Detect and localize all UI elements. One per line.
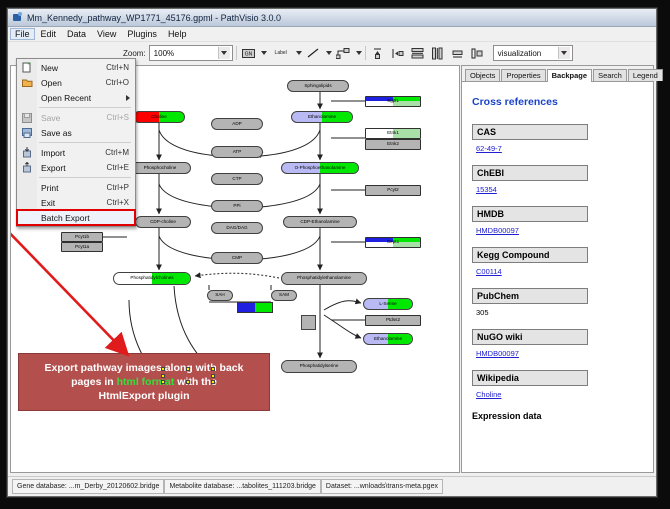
node-label: DAG/DAG — [226, 226, 247, 231]
svg-text:GN: GN — [244, 51, 252, 57]
node-label: L-Serine — [379, 302, 396, 307]
pathway-node-lserine[interactable]: L-Serine — [363, 298, 413, 310]
pathvisio-icon — [12, 12, 23, 23]
xref-value-chebi[interactable]: 15354 — [476, 185, 645, 194]
pathway-node-dagdag[interactable]: DAG/DAG — [211, 222, 263, 234]
node-label: ATP — [233, 150, 242, 155]
menu-item-save-as-label: Save as — [37, 128, 129, 138]
pathvisio-window: Mm_Kennedy_pathway_WP1771_45176.gpml - P… — [7, 8, 657, 497]
menu-item-save-accel: Ctrl+S — [107, 113, 135, 122]
node-label: Etnk1 — [387, 131, 399, 136]
node-label: PPi — [233, 204, 240, 209]
pathway-node-choline[interactable]: Choline — [133, 111, 185, 123]
dock-tabstrip: Objects Properties Backpage Search Legen… — [462, 66, 653, 82]
menu-item-new-label: New — [37, 63, 106, 73]
node-label: O-Phosphoethanolamine — [295, 166, 346, 171]
xref-value-kegg[interactable]: C00114 — [476, 267, 645, 276]
selection-handle[interactable] — [186, 367, 190, 371]
menu-item-exit-label: Exit — [37, 198, 107, 208]
selection-handle[interactable] — [161, 380, 165, 384]
xref-header-chebi: ChEBI — [472, 165, 588, 181]
interaction-tool-button[interactable] — [335, 45, 352, 61]
toolbar-separator — [236, 46, 237, 60]
datanode-dropdown-icon[interactable] — [261, 51, 267, 55]
submenu-arrow-icon — [126, 95, 130, 101]
backpage-panel: Cross references CAS 62-49-7 ChEBI 15354… — [462, 82, 653, 472]
menu-item-open-recent-label: Open Recent — [37, 93, 135, 103]
pathway-node-atp[interactable]: ATP — [211, 146, 263, 158]
menu-data[interactable]: Data — [62, 28, 91, 40]
xref-header-kegg: Kegg Compound — [472, 247, 588, 263]
pathway-node-ophosphoethanolamine[interactable]: O-Phosphoethanolamine — [281, 162, 359, 174]
expression-legend-block — [237, 302, 273, 313]
pathway-node-cdpethanolamine[interactable]: CDP-Ethanolamine — [283, 216, 357, 228]
menu-item-open[interactable]: Open Ctrl+O — [17, 75, 135, 90]
pathway-node-sgpl1[interactable]: Sgpl1 — [365, 96, 421, 107]
selection-handle[interactable] — [186, 380, 190, 384]
datanode-tool-button[interactable]: GN — [240, 45, 257, 61]
expression-data-heading: Expression data — [472, 411, 645, 421]
status-bar: Gene database: ...m_Derby_20120602.bridg… — [8, 476, 656, 496]
node-label: Phosphocholine — [144, 166, 177, 171]
menu-item-export-label: Export — [37, 163, 107, 173]
selection-handle[interactable] — [211, 380, 215, 384]
node-label: Ptdss2 — [386, 318, 400, 323]
pathway-node-cmp[interactable]: CMP — [211, 252, 263, 264]
annotation-line2-a: pages in — [71, 376, 117, 388]
menu-item-import[interactable]: Import Ctrl+M — [17, 145, 135, 160]
zoom-label: Zoom: — [123, 49, 146, 58]
pathway-node-ethanolamine1[interactable]: Ethanolamine — [291, 111, 353, 123]
pathway-node-ctp[interactable]: CTP — [211, 173, 263, 185]
annotation-line3: HtmlExport plugin — [99, 390, 190, 402]
xref-value-hmdb[interactable]: HMDB00097 — [476, 226, 645, 235]
expression-legend-block-right — [255, 303, 272, 312]
annotation-highlight: html format — [117, 376, 175, 388]
group-anchor-handle[interactable] — [301, 315, 316, 330]
menu-item-exit[interactable]: Exit Ctrl+X — [17, 195, 135, 210]
save-as-icon — [17, 128, 37, 138]
pathway-node-adp[interactable]: ADP — [211, 118, 263, 130]
status-dataset: Dataset: ...wnloads\trans-meta.pgex — [321, 479, 443, 494]
cross-references-heading: Cross references — [472, 96, 645, 108]
tab-legend[interactable]: Legend — [628, 69, 663, 81]
group-icon[interactable] — [469, 45, 486, 61]
visualization-value: visualization — [496, 49, 558, 58]
pathway-node-ptdss2[interactable]: Ptdss2 — [365, 315, 421, 326]
selection-handle[interactable] — [161, 374, 165, 378]
distribute-vertical-icon[interactable] — [409, 45, 426, 61]
file-menu-popup[interactable]: New Ctrl+N Open Ctrl+O Open Recent — [16, 58, 136, 227]
line-dropdown-icon[interactable] — [326, 51, 332, 55]
status-metabolite-database: Metabolite database: ...tabolites_111203… — [164, 479, 320, 494]
node-label: ADP — [232, 122, 241, 127]
menu-item-exit-accel: Ctrl+X — [107, 198, 135, 207]
xref-header-pubchem: PubChem — [472, 288, 588, 304]
new-file-icon — [17, 62, 37, 73]
pathway-node-pcyt2[interactable]: Pcyt2 — [365, 185, 421, 196]
visualization-combo[interactable]: visualization — [493, 45, 573, 61]
pathway-node-sam[interactable]: SAM — [271, 290, 297, 301]
pathway-node-cept1[interactable]: Cept1 — [365, 237, 421, 248]
import-icon — [17, 147, 37, 158]
side-dock: Objects Properties Backpage Search Legen… — [461, 65, 654, 473]
zoom-combo[interactable]: 100% — [149, 45, 233, 61]
menu-separator-1 — [39, 107, 131, 108]
selection-handle[interactable] — [211, 374, 215, 378]
align-left-icon[interactable] — [389, 45, 406, 61]
xref-header-nugo: NuGO wiki — [472, 329, 588, 345]
node-label: Phosphatidylserine — [300, 364, 339, 369]
chevron-down-icon[interactable] — [218, 47, 230, 59]
menu-separator-3 — [39, 177, 131, 178]
menu-bar: File Edit Data View Plugins Help — [8, 27, 656, 42]
align-top-icon[interactable] — [369, 45, 386, 61]
stack-center-icon[interactable] — [449, 45, 466, 61]
selection-handle[interactable] — [211, 367, 215, 371]
tab-backpage[interactable]: Backpage — [547, 69, 592, 82]
xref-value-wikipedia[interactable]: Choline — [476, 390, 645, 399]
pathway-node-phosphocholine[interactable]: Phosphocholine — [129, 162, 191, 174]
node-label: Ethanolamine — [374, 337, 402, 342]
window-title: Mm_Kennedy_pathway_WP1771_45176.gpml - P… — [27, 13, 281, 23]
node-label: Sphingolipids — [304, 84, 331, 89]
pathway-node-etnk2[interactable]: Etnk2 — [365, 139, 421, 150]
menu-item-open-accel: Ctrl+O — [106, 78, 135, 87]
label-tool-button[interactable]: Label — [270, 45, 292, 61]
xref-value-nugo[interactable]: HMDB00097 — [476, 349, 645, 358]
open-folder-icon — [17, 78, 37, 88]
menu-view[interactable]: View — [92, 28, 121, 40]
xref-header-hmdb: HMDB — [472, 206, 588, 222]
toolbar-separator-2 — [365, 46, 366, 60]
node-label: CTP — [232, 177, 241, 182]
menu-item-new[interactable]: New Ctrl+N — [17, 60, 135, 75]
menu-item-save: Save Ctrl+S — [17, 110, 135, 125]
menu-item-print-accel: Ctrl+P — [107, 183, 135, 192]
node-label: SAH — [215, 293, 224, 298]
status-gene-database: Gene database: ...m_Derby_20120602.bridg… — [12, 479, 164, 494]
menu-file[interactable]: File — [10, 28, 35, 40]
menu-edit[interactable]: Edit — [36, 28, 62, 40]
xref-value-pubchem: 305 — [476, 308, 645, 317]
menu-item-import-accel: Ctrl+M — [105, 148, 135, 157]
pathway-node-sphingolipids[interactable]: Sphingolipids — [287, 80, 349, 92]
title-bar: Mm_Kennedy_pathway_WP1771_45176.gpml - P… — [8, 9, 656, 27]
menu-plugins[interactable]: Plugins — [122, 28, 162, 40]
chevron-down-icon-2[interactable] — [558, 47, 570, 59]
menu-item-export[interactable]: Export Ctrl+E — [17, 160, 135, 175]
menu-item-print-label: Print — [37, 183, 107, 193]
line-tool-button[interactable] — [305, 45, 322, 61]
label-dropdown-icon[interactable] — [296, 51, 302, 55]
node-label: CMP — [232, 256, 242, 261]
node-label: Phosphatidylethanolamine — [297, 276, 351, 281]
menu-item-batch-export[interactable]: Batch Export — [17, 210, 135, 225]
xref-header-wikipedia: Wikipedia — [472, 370, 588, 386]
node-label: Choline — [151, 115, 167, 120]
tab-properties[interactable]: Properties — [501, 69, 545, 81]
menu-item-import-label: Import — [37, 148, 105, 158]
menu-item-open-recent[interactable]: Open Recent — [17, 90, 135, 105]
node-label: Ethanolamine — [308, 115, 336, 120]
menu-separator-2 — [39, 142, 131, 143]
menu-item-export-accel: Ctrl+E — [107, 163, 135, 172]
node-label: SAM — [279, 293, 289, 298]
node-label: Cept1 — [387, 240, 399, 245]
tab-objects[interactable]: Objects — [465, 69, 500, 81]
xref-header-cas: CAS — [472, 124, 588, 140]
menu-help[interactable]: Help — [163, 28, 192, 40]
save-disk-icon — [17, 113, 37, 123]
tab-search[interactable]: Search — [593, 69, 627, 81]
pathway-node-etnk1[interactable]: Etnk1 — [365, 128, 421, 139]
node-label: Sgpl1 — [387, 99, 399, 104]
distribute-horizontal-icon[interactable] — [429, 45, 446, 61]
menu-item-open-label: Open — [37, 78, 106, 88]
menu-item-save-label: Save — [37, 113, 107, 123]
pathway-node-phosphatidylserine[interactable]: Phosphatidylserine — [281, 360, 357, 373]
menu-item-save-as[interactable]: Save as — [17, 125, 135, 140]
zoom-value: 100% — [152, 49, 218, 58]
export-icon — [17, 162, 37, 173]
selection-handle[interactable] — [161, 367, 165, 371]
menu-item-new-accel: Ctrl+N — [106, 63, 135, 72]
interaction-dropdown-icon[interactable] — [356, 51, 362, 55]
node-label: CDP-Ethanolamine — [300, 220, 339, 225]
pathway-node-ethanolamine2[interactable]: Ethanolamine — [363, 333, 413, 345]
screenshot-root: Mm_Kennedy_pathway_WP1771_45176.gpml - P… — [0, 0, 670, 509]
xref-value-cas[interactable]: 62-49-7 — [476, 144, 645, 153]
menu-item-print[interactable]: Print Ctrl+P — [17, 180, 135, 195]
node-label: Etnk2 — [387, 142, 399, 147]
menu-item-batch-export-label: Batch Export — [37, 213, 135, 223]
pathway-node-ppi[interactable]: PPi — [211, 200, 263, 212]
pathway-node-phosphatidylethanolamine[interactable]: Phosphatidylethanolamine — [281, 272, 367, 285]
node-label: Pcyt2 — [387, 188, 399, 193]
